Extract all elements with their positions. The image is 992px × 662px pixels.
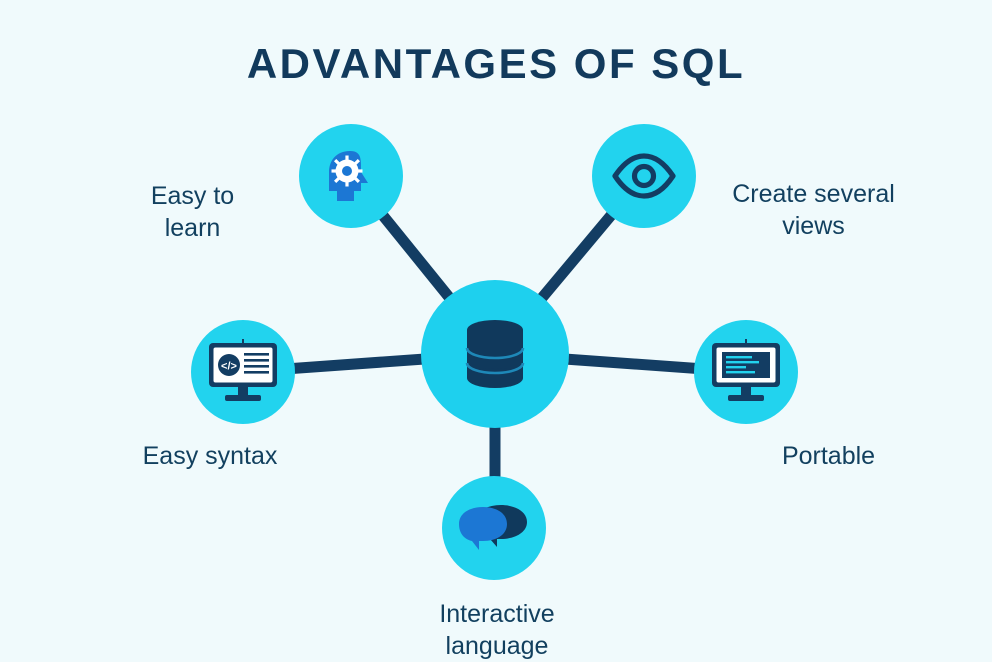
label-line-2: learn xyxy=(100,212,285,244)
label-line-1: Portable xyxy=(736,440,921,472)
node-easy-syntax[interactable]: </> xyxy=(191,320,295,424)
head-gear-icon xyxy=(320,145,382,207)
label-line-2: views xyxy=(706,210,921,242)
label-line-1: Create several xyxy=(706,178,921,210)
node-easy-to-learn[interactable] xyxy=(299,124,403,228)
diagram-canvas: ADVANTAGES OF SQL xyxy=(0,0,992,657)
node-center-database[interactable] xyxy=(421,280,569,428)
code-monitor-icon: </> xyxy=(206,339,280,405)
terminal-monitor-icon xyxy=(709,339,783,405)
label-easy-to-learn: Easy to learn xyxy=(100,180,285,244)
node-interactive-language[interactable] xyxy=(442,476,546,580)
speech-bubbles-icon xyxy=(457,501,531,555)
eye-icon xyxy=(611,152,677,200)
label-line-1: Easy syntax xyxy=(110,440,310,472)
label-portable: Portable xyxy=(736,440,921,472)
label-line-1: Interactive xyxy=(388,598,606,630)
node-portable[interactable] xyxy=(694,320,798,424)
label-line-1: Easy to xyxy=(100,180,285,212)
database-icon xyxy=(449,308,541,400)
label-create-several-views: Create several views xyxy=(706,178,921,242)
label-interactive-language: Interactive language xyxy=(388,598,606,662)
label-line-2: language xyxy=(388,630,606,662)
svg-text:</>: </> xyxy=(221,361,237,373)
node-create-several-views[interactable] xyxy=(592,124,696,228)
label-easy-syntax: Easy syntax xyxy=(110,440,310,472)
